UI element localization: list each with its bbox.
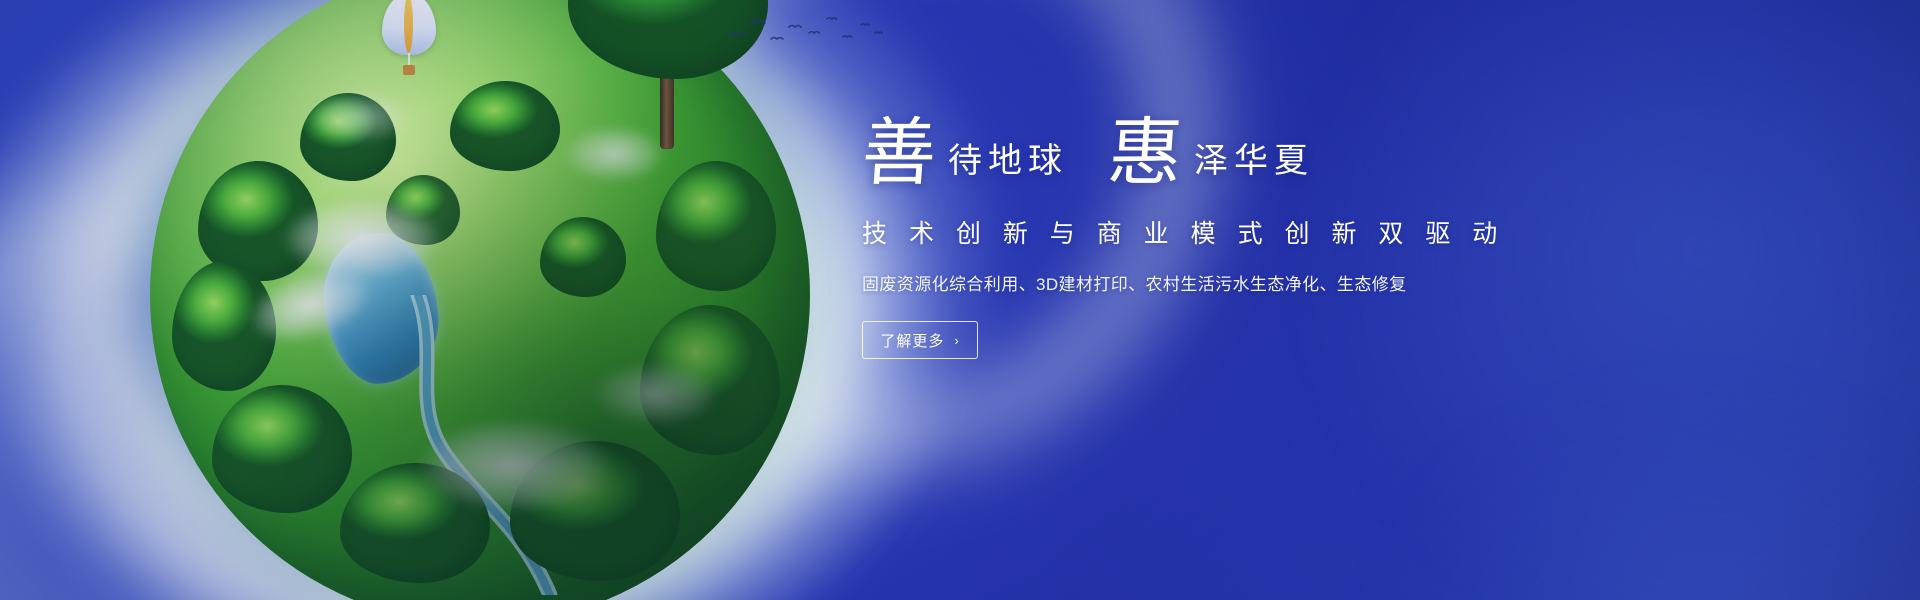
hero-subtitle: 技 术 创 新 与 商 业 模 式 创 新 双 驱 动	[862, 214, 1482, 250]
learn-more-button[interactable]: 了解更多 ›	[862, 321, 978, 359]
hero-banner: 善 待地球 惠 泽华夏 技 术 创 新 与 商 业 模 式 创 新 双 驱 动 …	[0, 0, 1920, 600]
chevron-right-icon: ›	[954, 334, 959, 347]
hero-description: 固废资源化综合利用、3D建材打印、农村生活污水生态净化、生态修复	[862, 270, 1482, 295]
headline-text-daidiqiu: 待地球	[938, 145, 1068, 188]
hero-content: 善 待地球 惠 泽华夏 技 术 创 新 与 商 业 模 式 创 新 双 驱 动 …	[862, 120, 1482, 359]
learn-more-label: 了解更多	[880, 330, 944, 351]
headline-text-zehuaxia: 泽华夏	[1184, 145, 1314, 188]
hero-headline: 善 待地球 惠 泽华夏	[862, 120, 1482, 188]
headline-char-shan: 善	[860, 120, 941, 188]
headline-char-hui: 惠	[1106, 120, 1187, 188]
